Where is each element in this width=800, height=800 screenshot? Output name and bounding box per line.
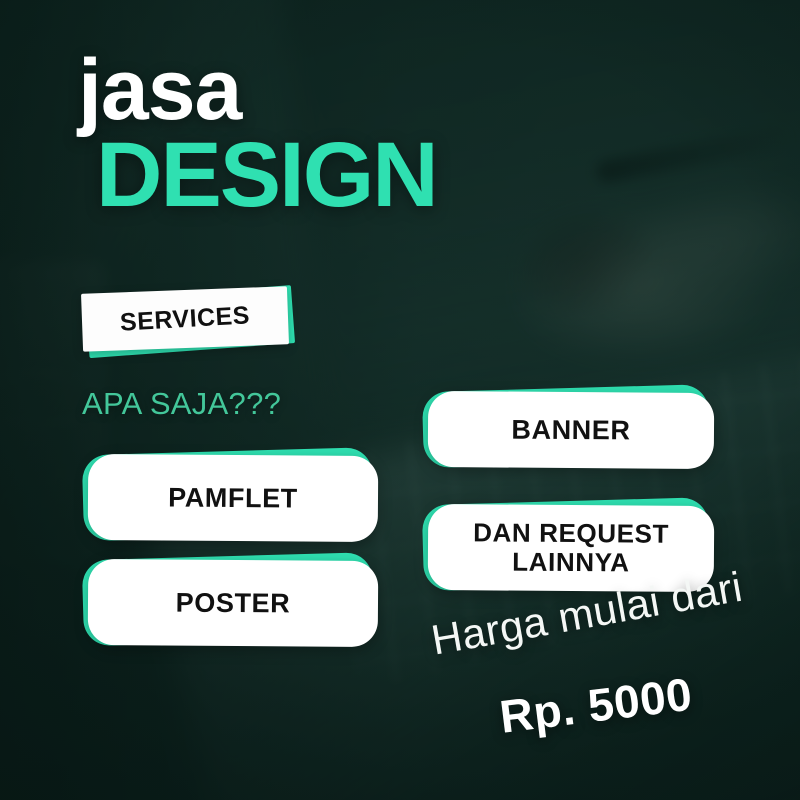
pill-label: POSTER	[176, 587, 291, 618]
services-badge: SERVICES	[82, 290, 288, 348]
service-pill-poster: POSTER	[88, 560, 378, 646]
pill-label: PAMFLET	[168, 482, 298, 513]
services-badge-label: SERVICES	[119, 301, 250, 337]
pill-label: DAN REQUEST LAINNYA	[428, 518, 714, 578]
price-amount-text: Rp. 5000	[497, 667, 695, 744]
pill-plate: BANNER	[428, 391, 715, 469]
question-text: APA SAJA???	[82, 386, 281, 422]
service-pill-pamflet: PAMFLET	[88, 455, 378, 541]
pill-plate: POSTER	[88, 559, 379, 647]
service-pill-banner: BANNER	[428, 392, 714, 468]
poster-canvas: jasa DESIGN SERVICES APA SAJA??? PAMFLET…	[0, 0, 800, 800]
headline-line-jasa: jasa	[78, 47, 241, 133]
pill-label: BANNER	[511, 414, 630, 445]
pill-plate: PAMFLET	[88, 454, 379, 542]
headline-line-design: DESIGN	[96, 129, 437, 221]
services-badge-plate: SERVICES	[81, 286, 289, 352]
